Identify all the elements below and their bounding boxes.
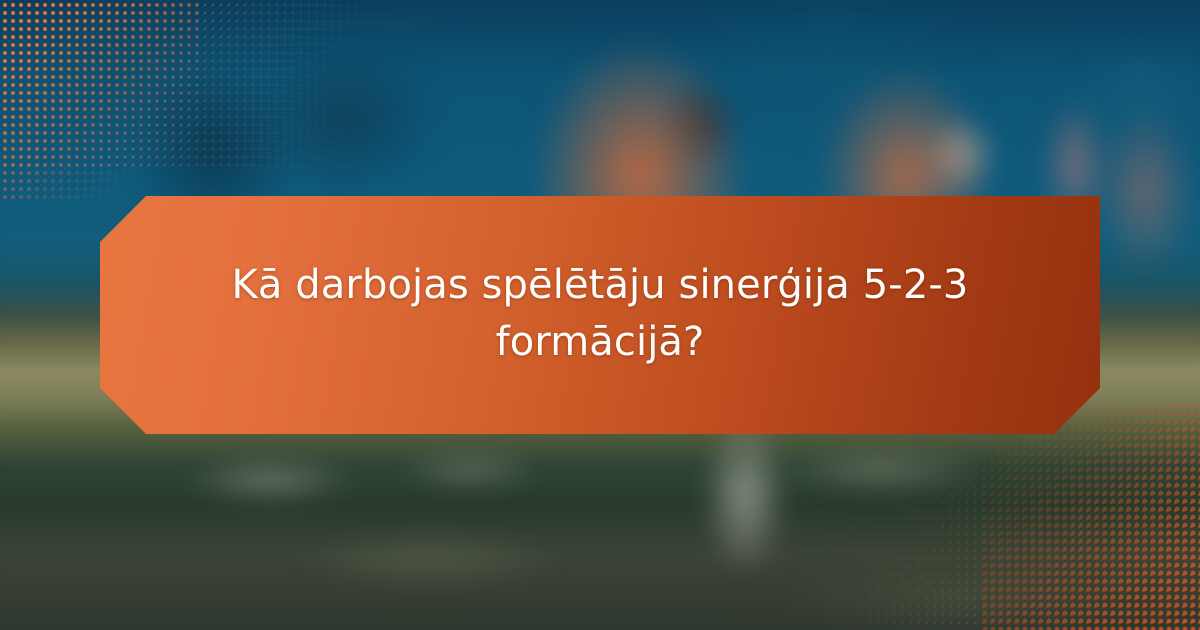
halftone-dots-bottom-right-fine-icon [730, 410, 1200, 630]
share-card: Kā darbojas spēlētāju sinerģija 5-2-3 fo… [0, 0, 1200, 630]
title-banner: Kā darbojas spēlētāju sinerģija 5-2-3 fo… [100, 196, 1100, 434]
halftone-dots-top-left-fine-icon [0, 0, 470, 170]
page-title: Kā darbojas spēlētāju sinerģija 5-2-3 fo… [205, 257, 995, 373]
